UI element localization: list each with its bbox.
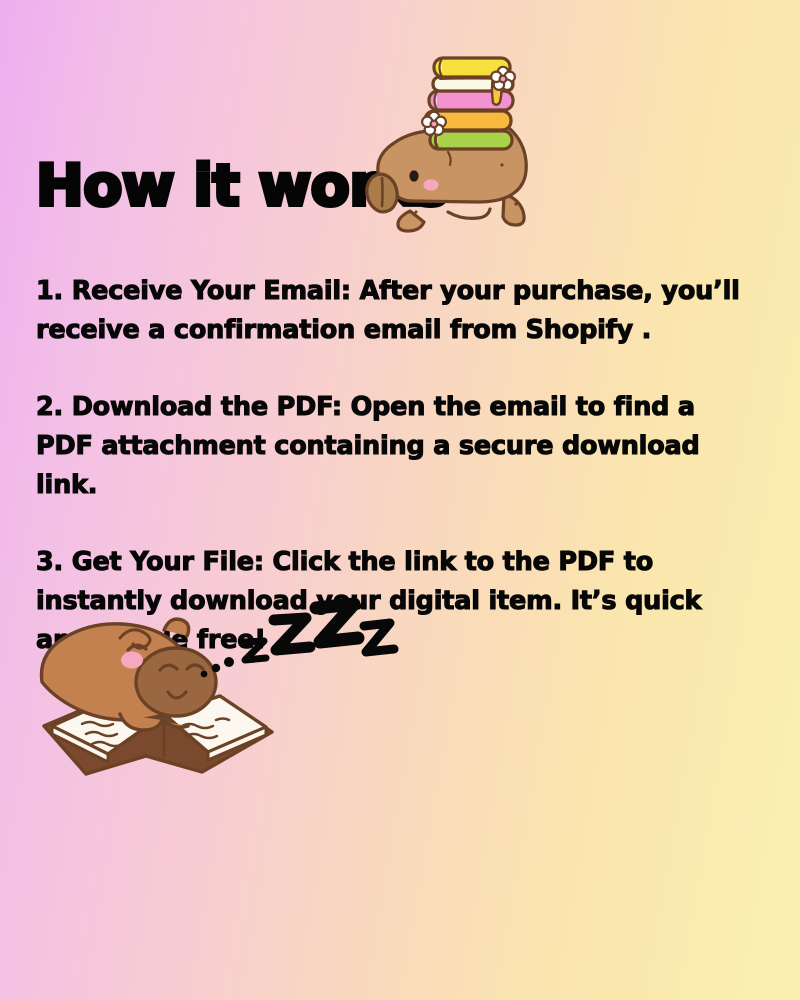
capybara-sleeping-shape bbox=[41, 619, 216, 730]
poster-canvas: How it works bbox=[0, 0, 800, 1000]
step-item-2: 2. Download the PDF: Open the email to f… bbox=[36, 388, 760, 505]
sleep-zzz-marks bbox=[196, 588, 416, 680]
step-item-1: 1. Receive Your Email: After your purcha… bbox=[36, 272, 760, 350]
capybara-with-book-stack-illustration bbox=[352, 52, 552, 238]
